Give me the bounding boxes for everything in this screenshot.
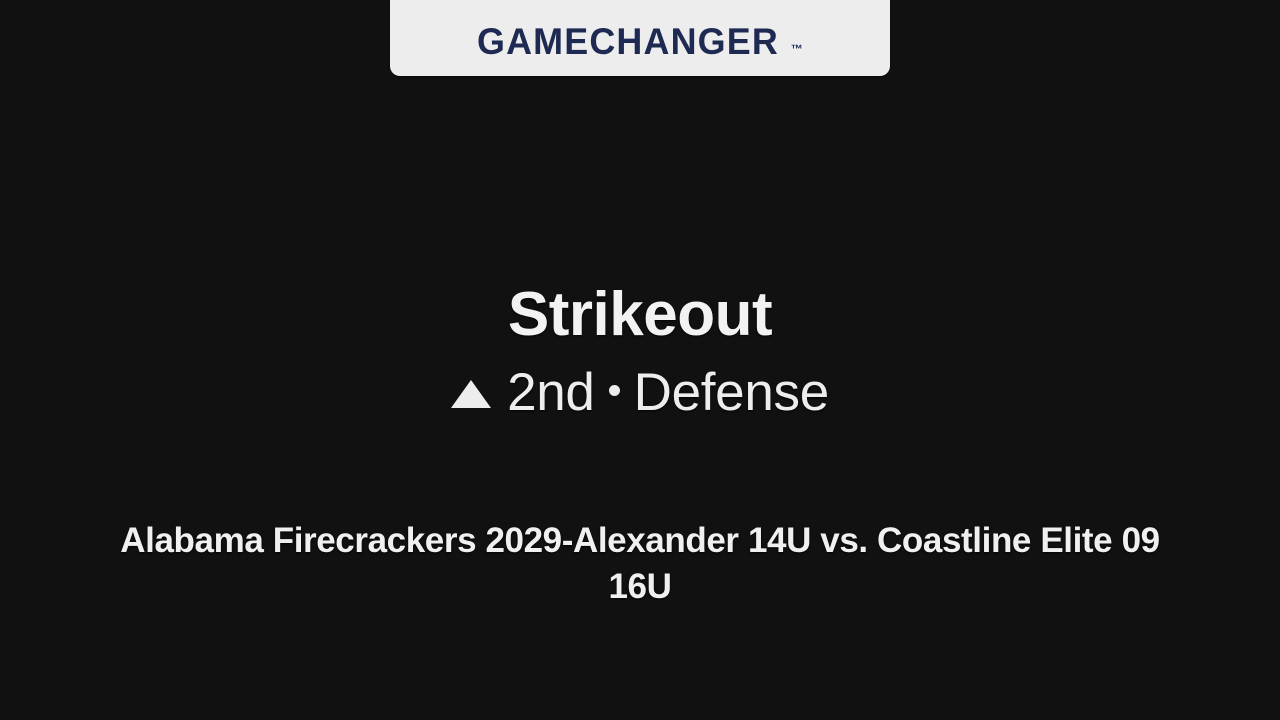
play-result-title: Strikeout — [0, 282, 1280, 349]
gamechanger-logo: GAMECHANGER ™ — [477, 23, 804, 60]
team-side-label: Defense — [634, 365, 829, 421]
gamechanger-brand-badge: GAMECHANGER ™ — [390, 0, 890, 76]
trademark-icon: ™ — [791, 43, 804, 55]
bullet-separator-icon — [609, 385, 620, 396]
triangle-up-icon — [451, 380, 491, 408]
matchup-caption: Alabama Firecrackers 2029-Alexander 14U … — [85, 518, 1195, 610]
play-context-line: 2nd Defense — [0, 365, 1280, 421]
play-card-screen: GAMECHANGER ™ Strikeout 2nd Defense Alab… — [0, 0, 1280, 720]
inning-label: 2nd — [507, 365, 595, 421]
gamechanger-wordmark-text: GAMECHANGER — [477, 23, 779, 60]
play-summary: Strikeout 2nd Defense — [0, 282, 1280, 421]
matchup-line-1: Alabama Firecrackers 2029-Alexander 14U … — [120, 521, 1112, 560]
